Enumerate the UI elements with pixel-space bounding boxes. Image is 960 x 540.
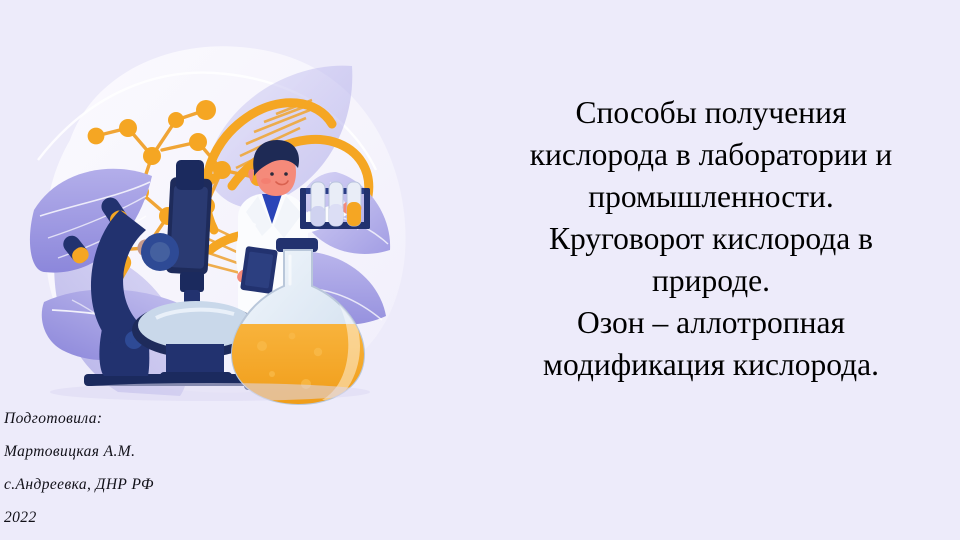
slide-title: Способы получения кислорода в лаборатори… <box>472 92 950 386</box>
title-line-7: модификация кислорода. <box>472 344 950 386</box>
author-location: с.Андреевка, ДНР РФ <box>4 468 304 501</box>
title-line-1: Способы получения <box>472 92 950 134</box>
author-name: Мартовицкая А.М. <box>4 435 304 468</box>
title-line-4: Круговорот кислорода в <box>472 218 950 260</box>
title-line-3: промышленности. <box>472 176 950 218</box>
title-line-6: Озон – аллотропная <box>472 302 950 344</box>
laboratory-science-illustration <box>0 0 470 410</box>
title-line-5: природе. <box>472 260 950 302</box>
presentation-slide: Способы получения кислорода в лаборатори… <box>0 0 960 540</box>
author-credit: Подготовила: Мартовицкая А.М. с.Андреевк… <box>4 402 304 534</box>
author-year: 2022 <box>4 501 304 534</box>
author-prepared-by-label: Подготовила: <box>4 402 304 435</box>
title-line-2: кислорода в лаборатории и <box>472 134 950 176</box>
